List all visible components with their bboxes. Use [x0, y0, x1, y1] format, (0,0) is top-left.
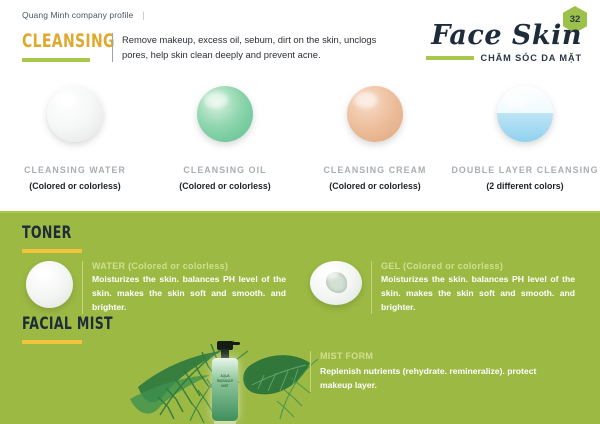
facial-mist-body: Replenish nutrients (rehydrate. reminera…: [320, 364, 560, 392]
facial-mist-title: FACIAL MIST: [22, 316, 113, 333]
swatch-toner-water: [26, 261, 73, 308]
logo-subtitle: CHĂM SÓC DA MẶT: [481, 53, 582, 63]
toner-item-water: WATER (Colored or colorless) Moisturizes…: [26, 261, 286, 314]
swatch-layer-top: [497, 86, 553, 113]
toner-gel-body: Moisturizes the skin. balances PH level …: [381, 273, 575, 314]
product-double-layer-cleansing: DOUBLE LAYER CLEANSING (2 different colo…: [450, 86, 600, 204]
swatch-cleansing-oil: [197, 86, 253, 142]
product-note: (2 different colors): [486, 181, 563, 191]
panel-top-rule: [0, 211, 600, 213]
cleansing-description: Remove makeup, excess oil, sebum, dirt o…: [112, 33, 380, 62]
product-note: (Colored or colorless): [29, 181, 120, 191]
facial-mist-bottle: AQUA RADIANCE MIST: [212, 339, 238, 421]
face-skin-logo: Face Skin CHĂM SÓC DA MẶT: [414, 22, 582, 63]
swatch-cleansing-cream: [347, 86, 403, 142]
product-cleansing-water: CLEANSING WATER (Colored or colorless): [0, 86, 150, 204]
facial-mist-label: MIST FORM: [320, 351, 560, 361]
bottle-label: AQUA RADIANCE MIST: [215, 372, 235, 390]
product-note: (Colored or colorless): [329, 181, 420, 191]
cleansing-title: CLEANSING: [22, 32, 115, 51]
toner-title: TONER: [22, 225, 72, 242]
product-cleansing-cream: CLEANSING CREAM (Colored or colorless): [300, 86, 450, 204]
toner-section-header: TONER: [22, 225, 82, 253]
brand-line-text: Quang Minh company profile: [22, 10, 133, 20]
cleansing-accent-bar: [22, 58, 90, 62]
product-name: CLEANSING OIL: [183, 164, 266, 177]
toner-water-body: Moisturizes the skin. balances PH level …: [92, 273, 286, 314]
logo-rule: [426, 56, 474, 60]
company-profile-page: Quang Minh company profile| 32 Face Skin…: [0, 0, 600, 424]
product-note: (Colored or colorless): [179, 181, 270, 191]
toner-gel-text: GEL (Colored or colorless) Moisturizes t…: [371, 261, 575, 314]
toner-gel-label: GEL (Colored or colorless): [381, 261, 575, 271]
toner-water-text: WATER (Colored or colorless) Moisturizes…: [82, 261, 286, 314]
facial-mist-accent-bar: [22, 340, 82, 344]
logo-name: Face Skin: [414, 22, 582, 49]
swatch-double-layer: [497, 86, 553, 142]
swatch-toner-gel: [310, 261, 362, 305]
brand-line-divider: |: [142, 10, 144, 20]
product-name: CLEANSING CREAM: [323, 164, 426, 177]
swatch-cleansing-water: [47, 86, 103, 142]
swatch-layer-bottom: [497, 113, 553, 142]
toner-accent-bar: [22, 249, 82, 253]
product-name: DOUBLE LAYER CLEANSING: [451, 164, 598, 177]
green-panel: TONER WATER (Colored or colorless) Moist…: [0, 211, 600, 424]
product-name: CLEANSING WATER: [24, 164, 126, 177]
logo-subtitle-row: CHĂM SÓC DA MẶT: [414, 53, 582, 63]
facial-mist-section-header: FACIAL MIST: [22, 316, 133, 344]
bottle-body: AQUA RADIANCE MIST: [212, 358, 238, 421]
cleansing-product-row: CLEANSING WATER (Colored or colorless) C…: [0, 86, 600, 204]
brand-line: Quang Minh company profile|: [22, 10, 145, 20]
toner-water-label: WATER (Colored or colorless): [92, 261, 286, 271]
facial-mist-text: MIST FORM Replenish nutrients (rehydrate…: [310, 351, 560, 392]
product-cleansing-oil: CLEANSING OIL (Colored or colorless): [150, 86, 300, 204]
toner-item-gel: GEL (Colored or colorless) Moisturizes t…: [310, 261, 575, 314]
